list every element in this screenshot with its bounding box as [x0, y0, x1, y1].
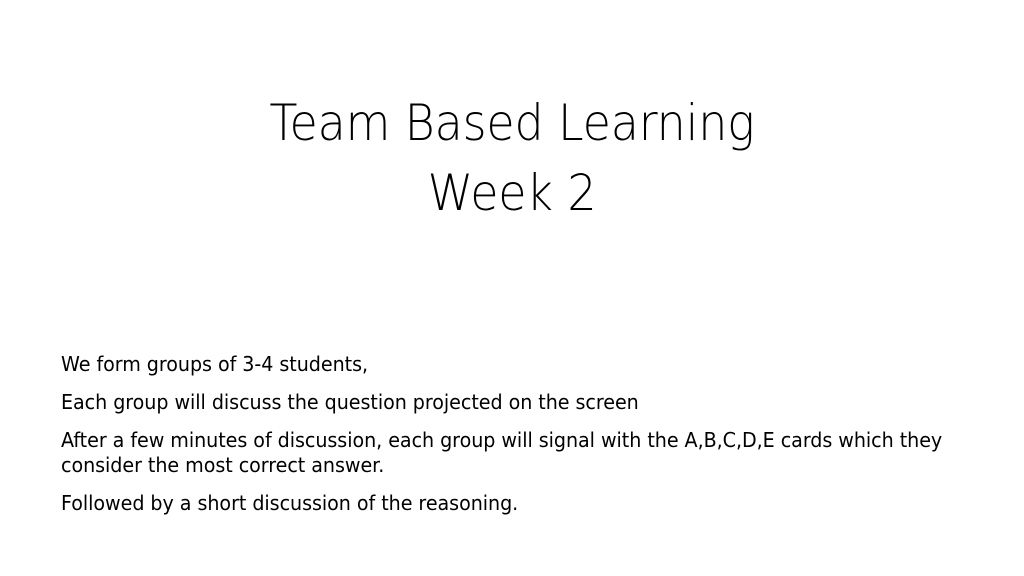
body-paragraph-4: Followed by a short discussion of the re…	[61, 491, 930, 516]
title-line-2: Week 2	[98, 158, 926, 228]
body-paragraph-2: Each group will discuss the question pro…	[61, 390, 930, 415]
title-line-1: Team Based Learning	[98, 88, 926, 158]
body-paragraph-3: After a few minutes of discussion, each …	[61, 428, 973, 478]
body-paragraph-1: We form groups of 3-4 students,	[61, 352, 930, 377]
slide-title: Team Based Learning Week 2	[62, 88, 962, 228]
slide-body: We form groups of 3-4 students, Each gro…	[61, 352, 971, 516]
presentation-slide: Team Based Learning Week 2 We form group…	[0, 0, 1024, 576]
